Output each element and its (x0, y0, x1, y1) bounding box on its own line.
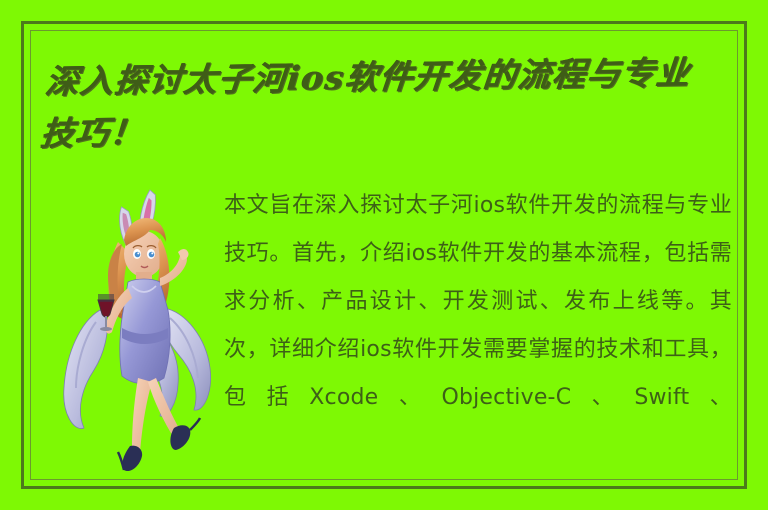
poster-canvas: 深入探讨太子河ios软件开发的流程与专业技巧！ (0, 0, 768, 510)
fox-tail-left (64, 310, 107, 429)
title-text: 深入探讨太子河ios软件开发的流程与专业技巧！ (39, 47, 721, 160)
article-body: 本文旨在深入探讨太子河ios软件开发的流程与专业技巧。首先，介绍ios软件开发的… (224, 182, 732, 482)
leg-front (132, 378, 152, 455)
bunny-girl-character-illustration (60, 182, 220, 474)
page-title: 深入探讨太子河ios软件开发的流程与专业技巧！ (48, 56, 720, 160)
article-body-text: 本文旨在深入探讨太子河ios软件开发的流程与专业技巧。首先，介绍ios软件开发的… (224, 182, 732, 422)
shoe-front (118, 446, 142, 471)
